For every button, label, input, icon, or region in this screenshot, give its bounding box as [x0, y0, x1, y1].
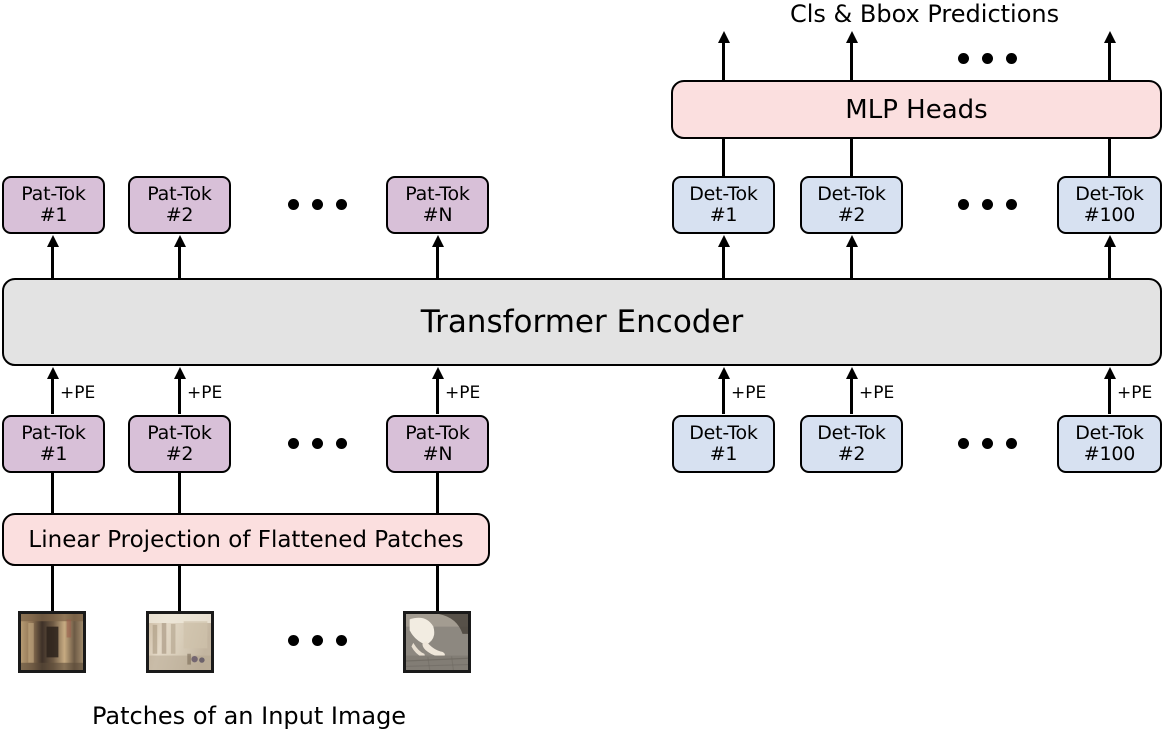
det-token-input-1-name: Det-Tok: [689, 423, 758, 444]
det-token-input-2: Det-Tok #2: [800, 415, 903, 473]
patch-token-output-n-index: #N: [423, 205, 453, 226]
patch-token-to-encoder-arrow-3: [436, 378, 439, 414]
det-token-output-100-name: Det-Tok: [1075, 184, 1144, 205]
det-token-output-2: Det-Tok #2: [800, 176, 903, 234]
encoder-to-det-token-arrow-2: [850, 246, 853, 280]
pe-label-5: +PE: [859, 383, 894, 403]
det-token-output-100: Det-Tok #100: [1057, 176, 1162, 234]
det-token-input-2-index: #2: [838, 444, 866, 465]
image-patch-2-art: [149, 614, 211, 670]
det-token-out-link-2: [850, 139, 853, 179]
prediction-output-arrow-2: [850, 42, 853, 80]
det-token-input-1: Det-Tok #1: [672, 415, 775, 473]
patch-to-projection-link-1: [51, 566, 54, 614]
det-token-input-1-index: #1: [710, 444, 738, 465]
pe-label-6: +PE: [1117, 383, 1152, 403]
mlp-heads-label: MLP Heads: [845, 95, 987, 125]
architecture-diagram: Cls & Bbox Predictions MLP Heads Pat-Tok…: [0, 0, 1165, 730]
patch-token-to-encoder-arrow-2: [178, 378, 181, 414]
projection-to-patch-token-link-3: [436, 473, 439, 514]
det-token-to-encoder-arrow-1: [722, 378, 725, 414]
image-patch-3-art: [406, 614, 468, 670]
transformer-encoder-label: Transformer Encoder: [421, 304, 744, 340]
det-token-output-1: Det-Tok #1: [672, 176, 775, 234]
det-token-input-2-name: Det-Tok: [817, 423, 886, 444]
patch-token-input-1: Pat-Tok #1: [2, 415, 105, 473]
det-token-input-ellipsis: [958, 438, 1017, 449]
patch-token-input-n: Pat-Tok #N: [386, 415, 489, 473]
det-token-output-2-name: Det-Tok: [817, 184, 886, 205]
patch-token-output-1-index: #1: [40, 205, 68, 226]
encoder-to-det-token-arrow-3: [1108, 246, 1111, 280]
transformer-encoder-block: Transformer Encoder: [2, 278, 1162, 366]
det-token-output-1-index: #1: [710, 205, 738, 226]
patch-token-output-2-index: #2: [166, 205, 194, 226]
encoder-to-patch-token-arrow-2: [178, 246, 181, 280]
det-token-output-100-index: #100: [1084, 205, 1135, 226]
pe-label-3: +PE: [445, 383, 480, 403]
encoder-to-patch-token-arrow-1: [51, 246, 54, 280]
projection-to-patch-token-link-2: [178, 473, 181, 514]
pe-label-2: +PE: [187, 383, 222, 403]
image-patch-3: [403, 611, 471, 673]
projection-to-patch-token-link-1: [51, 473, 54, 514]
det-token-input-100: Det-Tok #100: [1057, 415, 1162, 473]
encoder-to-det-token-arrow-1: [722, 246, 725, 280]
pe-label-1: +PE: [60, 383, 95, 403]
patch-to-projection-link-3: [436, 566, 439, 614]
image-patch-1-art: [21, 614, 83, 670]
det-token-output-2-index: #2: [838, 205, 866, 226]
patch-token-output-n-name: Pat-Tok: [405, 184, 469, 205]
det-token-out-link-3: [1108, 139, 1111, 179]
patch-token-input-2-index: #2: [166, 444, 194, 465]
patch-to-projection-link-2: [178, 566, 181, 614]
det-token-input-100-index: #100: [1084, 444, 1135, 465]
patches-caption: Patches of an Input Image: [92, 702, 406, 730]
det-token-out-link-1: [722, 139, 725, 179]
det-token-output-ellipsis: [958, 199, 1017, 210]
patch-token-input-2-name: Pat-Tok: [147, 423, 211, 444]
det-token-output-1-name: Det-Tok: [689, 184, 758, 205]
patch-token-input-1-name: Pat-Tok: [21, 423, 85, 444]
patch-token-output-ellipsis: [288, 199, 347, 210]
patch-token-input-n-index: #N: [423, 444, 453, 465]
patch-token-output-2-name: Pat-Tok: [147, 184, 211, 205]
linear-projection-label: Linear Projection of Flattened Patches: [28, 527, 463, 553]
patch-token-output-1-name: Pat-Tok: [21, 184, 85, 205]
patch-token-input-2: Pat-Tok #2: [128, 415, 231, 473]
patch-token-input-1-index: #1: [40, 444, 68, 465]
image-patch-2: [146, 611, 214, 673]
det-token-input-100-name: Det-Tok: [1075, 423, 1144, 444]
predictions-title: Cls & Bbox Predictions: [790, 0, 1059, 28]
patch-token-to-encoder-arrow-1: [51, 378, 54, 414]
linear-projection-block: Linear Projection of Flattened Patches: [2, 513, 490, 566]
prediction-output-arrow-3: [1108, 42, 1111, 80]
mlp-heads-block: MLP Heads: [671, 80, 1162, 139]
patch-token-output-n: Pat-Tok #N: [386, 176, 489, 234]
pe-label-4: +PE: [731, 383, 766, 403]
patch-token-input-ellipsis: [288, 438, 347, 449]
det-token-to-encoder-arrow-2: [850, 378, 853, 414]
encoder-to-patch-token-arrow-3: [436, 246, 439, 280]
patch-token-input-n-name: Pat-Tok: [405, 423, 469, 444]
image-patch-ellipsis: [288, 635, 347, 646]
det-token-to-encoder-arrow-3: [1108, 378, 1111, 414]
prediction-output-arrow-1: [722, 42, 725, 80]
patch-token-output-2: Pat-Tok #2: [128, 176, 231, 234]
image-patch-1: [18, 611, 86, 673]
prediction-output-ellipsis: [958, 53, 1017, 64]
patch-token-output-1: Pat-Tok #1: [2, 176, 105, 234]
